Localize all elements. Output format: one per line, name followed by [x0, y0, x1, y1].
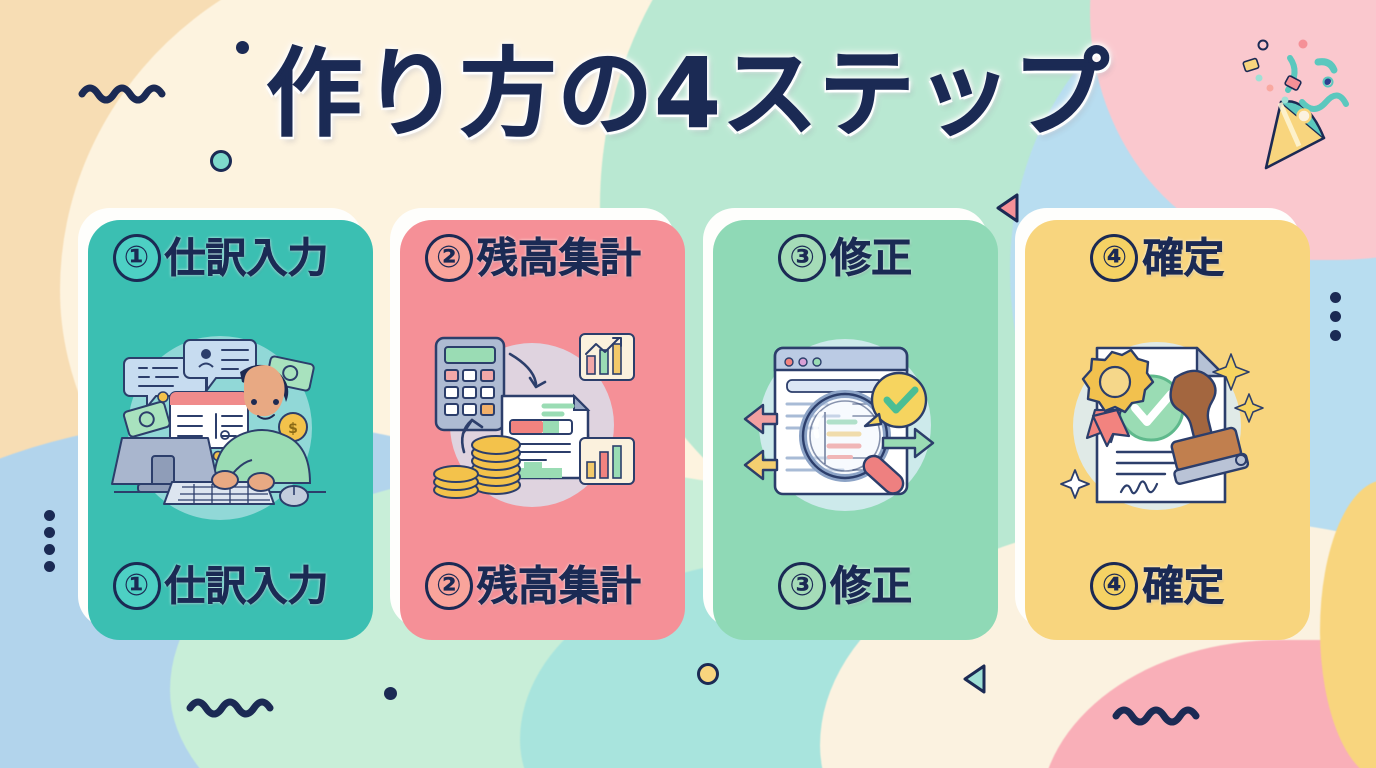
- step-badge-1: ①: [113, 234, 161, 282]
- step-card-3[interactable]: ③ 修正: [703, 208, 988, 628]
- step-label-4-top: 確定: [1142, 238, 1224, 279]
- step-illustration-1: $: [108, 310, 333, 535]
- step-badge-4-bottom: ④: [1090, 562, 1138, 610]
- dot-right-3-icon: [1330, 330, 1341, 341]
- dot-right-2-icon: [1330, 311, 1341, 322]
- step-card-4[interactable]: ④ 確定: [1015, 208, 1300, 628]
- dot-left-4-icon: [44, 561, 55, 572]
- step-card-1[interactable]: ① 仕訳入力: [78, 208, 363, 628]
- squiggle-bottom-left-icon: [186, 692, 286, 718]
- step-illustration-4: [1045, 310, 1270, 535]
- step-card-4-footer: ④ 確定: [1025, 562, 1290, 610]
- step-badge-1-bottom: ①: [113, 562, 161, 610]
- step-badge-4: ④: [1090, 234, 1138, 282]
- page-title: 作り方の4ステップ: [0, 44, 1376, 145]
- step-card-3-header: ③ 修正: [713, 234, 978, 282]
- step-card-3-footer: ③ 修正: [713, 562, 978, 610]
- step-label-1-top: 仕訳入力: [165, 238, 329, 279]
- svg-text:$: $: [288, 421, 298, 437]
- step-label-3-top: 修正: [830, 238, 912, 279]
- steps-row: ① 仕訳入力: [78, 208, 1300, 630]
- step-badge-2: ②: [425, 234, 473, 282]
- dot-left-2-icon: [44, 527, 55, 538]
- step-label-2-bottom: 残高集計: [477, 566, 641, 607]
- squiggle-bottom-right-icon: [1112, 700, 1212, 726]
- dot-bottom-left-icon: [384, 687, 397, 700]
- dot-left-1-icon: [44, 510, 55, 521]
- dot-left-3-icon: [44, 544, 55, 555]
- step-card-2-footer: ② 残高集計: [400, 562, 665, 610]
- step-label-3-bottom: 修正: [830, 566, 912, 607]
- step-illustration-2: [420, 310, 645, 535]
- teal-ring-top-left-icon: [210, 150, 232, 172]
- step-illustration-3: [733, 310, 958, 535]
- step-card-2-header: ② 残高集計: [400, 234, 665, 282]
- step-label-1-bottom: 仕訳入力: [165, 566, 329, 607]
- step-badge-3: ③: [778, 234, 826, 282]
- infographic-canvas: 作り方の4ステップ ① 仕訳入力: [0, 0, 1376, 768]
- step-label-4-bottom: 確定: [1142, 566, 1224, 607]
- step-badge-3-bottom: ③: [778, 562, 826, 610]
- triangle-mint-icon: [960, 662, 990, 696]
- step-card-1-footer: ① 仕訳入力: [88, 562, 353, 610]
- step-card-1-header: ① 仕訳入力: [88, 234, 353, 282]
- step-badge-2-bottom: ②: [425, 562, 473, 610]
- step-card-4-header: ④ 確定: [1025, 234, 1290, 282]
- step-card-2[interactable]: ② 残高集計: [390, 208, 675, 628]
- yellow-ring-icon: [697, 663, 719, 685]
- step-label-2-top: 残高集計: [477, 238, 641, 279]
- dot-right-1-icon: [1330, 292, 1341, 303]
